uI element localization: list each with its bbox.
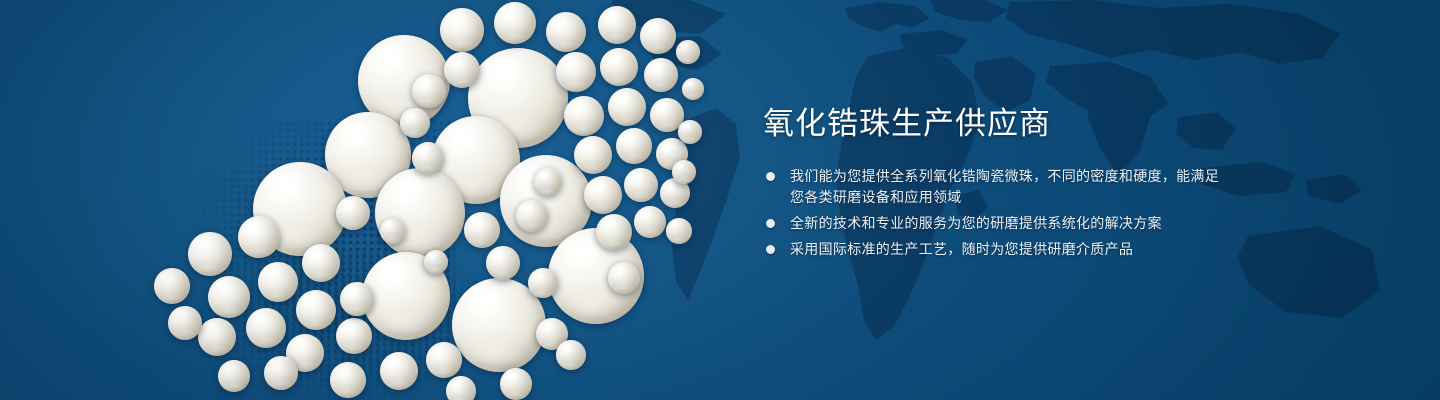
hero-banner: 氧化锆珠生产供应商 我们能为您提供全系列氧化锆陶瓷微珠，不同的密度和硬度，能满足… [0,0,1440,400]
list-item: 采用国际标准的生产工艺，随时为您提供研磨介质产品 [763,239,1233,260]
page-title: 氧化锆珠生产供应商 [763,104,1233,144]
bullet-dot-icon [766,172,775,181]
list-item: 全新的技术和专业的服务为您的研磨提供系统化的解决方案 [763,213,1233,234]
list-item-text: 全新的技术和专业的服务为您的研磨提供系统化的解决方案 [790,215,1162,231]
list-item: 我们能为您提供全系列氧化锆陶瓷微珠，不同的密度和硬度，能满足您各类研磨设备和应用… [763,166,1233,208]
list-item-text: 我们能为您提供全系列氧化锆陶瓷微珠，不同的密度和硬度，能满足您各类研磨设备和应用… [790,168,1219,205]
bullet-dot-icon [766,245,775,254]
bullet-dot-icon [766,219,775,228]
list-item-text: 采用国际标准的生产工艺，随时为您提供研磨介质产品 [790,241,1133,257]
banner-copy: 氧化锆珠生产供应商 我们能为您提供全系列氧化锆陶瓷微珠，不同的密度和硬度，能满足… [763,104,1233,260]
feature-list: 我们能为您提供全系列氧化锆陶瓷微珠，不同的密度和硬度，能满足您各类研磨设备和应用… [763,166,1233,260]
